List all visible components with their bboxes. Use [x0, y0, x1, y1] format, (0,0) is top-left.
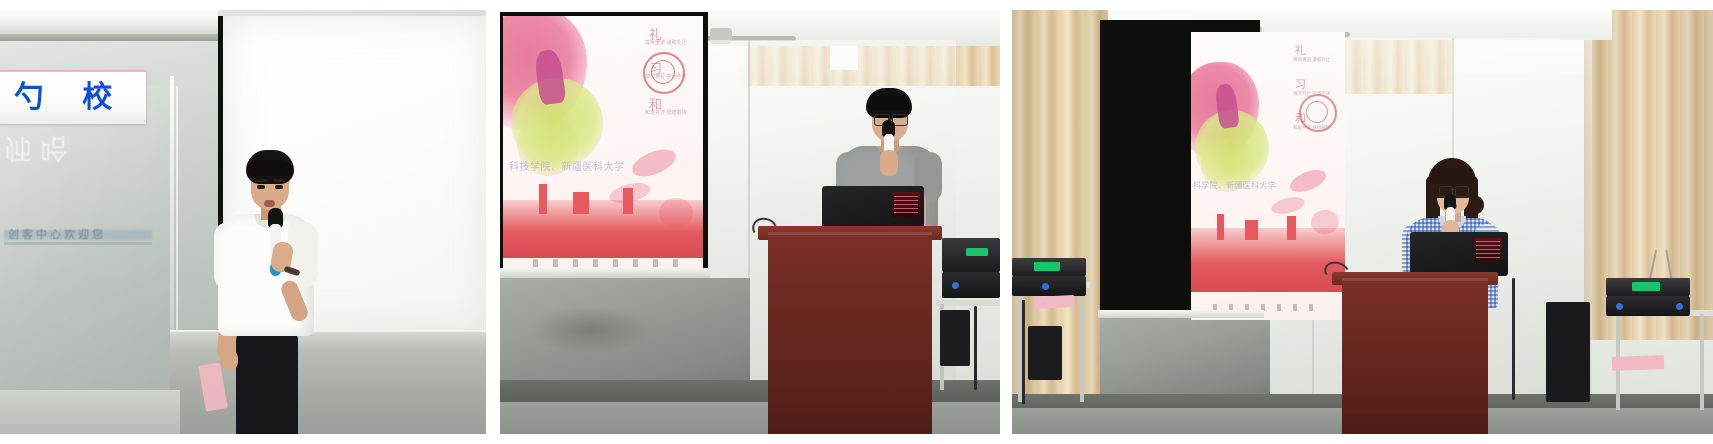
hair-fringe: [1430, 168, 1475, 184]
slide-char-3-sub: 和衷共济 厚德载物: [645, 110, 697, 118]
rack-power-led: [952, 282, 959, 289]
slide-char-1-sub: 尊师重道 谦和礼让: [645, 40, 697, 48]
slide-character-column: 礼 尊师重道 谦和礼让 习 博学笃行 学而不厌 和 和衷共济 厚德载物: [641, 22, 697, 144]
left-hand: [220, 350, 238, 370]
equipment-table: [936, 300, 1000, 306]
hair-fringe: [867, 96, 911, 110]
slide-character-column: 礼 尊师重道 谦和礼让 习 博学笃行 学而不厌 和 和衷共济 厚德载物: [1291, 42, 1337, 162]
cable-left: [1022, 300, 1025, 404]
slide-char-2-sub: 博学笃行 学而不厌: [645, 74, 697, 82]
projected-slide: 礼 尊师重道 谦和礼让 习 博学笃行 学而不厌 和 和衷共济 厚德载物 科学院、…: [1191, 32, 1345, 320]
wooden-podium: [1342, 278, 1488, 434]
left-eye: [257, 185, 265, 189]
photo-panel-1[interactable]: 师哈 创客中心欢迎您 勺 校: [0, 10, 486, 434]
rack-led-display: [966, 248, 988, 256]
audio-rack-lower: [942, 272, 1000, 298]
cart-left-leg-2: [1080, 286, 1084, 402]
projected-slide: 礼 尊师重道 谦和礼让 习 博学笃行 学而不厌 和 和衷共济 厚德载物 科技学院…: [503, 16, 703, 269]
screen-bottom-edge: [1098, 310, 1264, 318]
trousers: [236, 330, 298, 434]
photo-panel-3[interactable]: 礼 尊师重道 谦和礼让 习 博学笃行 学而不厌 和 和衷共济 厚德载物 科学院、…: [1012, 10, 1713, 434]
mouth: [264, 200, 275, 207]
slide-skyline: [1191, 228, 1345, 292]
pink-paper-left: [1034, 295, 1075, 309]
rack-right-power-led-1: [1616, 303, 1623, 310]
hair-fringe: [247, 160, 293, 176]
ceiling-panel: [0, 10, 218, 36]
speaker-box-left: [1028, 326, 1062, 380]
signboard-text: 勺 校: [0, 83, 146, 113]
photo-collage: 师哈 创客中心欢迎您 勺 校: [0, 0, 1713, 444]
projection-screen-frame: 礼 尊师重道 谦和礼让 习 博学笃行 学而不厌 和 和衷共济 厚德载物 科学院、…: [1100, 20, 1260, 316]
floor-left: [0, 390, 180, 434]
rack-right-power-led-2: [1676, 303, 1683, 310]
sign-reflection-text: 师哈: [4, 130, 134, 170]
rack-left-power-led: [1042, 283, 1049, 290]
slide-char-3-sub: 和衷共济 厚德载物: [1293, 126, 1335, 133]
pink-paper-right: [1612, 355, 1664, 371]
rack-right-led-display: [1632, 282, 1660, 291]
slide-char-3: 和: [1295, 110, 1306, 126]
slide-char-1: 礼: [1295, 42, 1306, 58]
hair-bun: [1468, 196, 1484, 214]
slide-skyline: [503, 200, 703, 258]
glasses-bridge: [1451, 189, 1455, 190]
wooden-podium: [768, 232, 932, 434]
glasses-right-lens: [1455, 186, 1469, 197]
slide-bottom-bar: [533, 259, 683, 267]
photo-panel-2[interactable]: 礼 尊师重道 谦和礼让 习 博学笃行 学而不厌 和 和衷共济 厚德载物 科技学院…: [500, 10, 1000, 434]
projection-screen-frame: 礼 尊师重道 谦和礼让 习 博学笃行 学而不厌 和 和衷共济 厚德载物 科技学院…: [500, 12, 708, 274]
screen-bottom-edge: [500, 268, 710, 278]
hand: [880, 150, 898, 176]
right-eye: [275, 185, 283, 189]
ceiling-lip: [0, 34, 218, 41]
slide-char-2-sub: 博学笃行 学而不厌: [1293, 92, 1335, 99]
cart-right-leg-2: [1700, 314, 1704, 410]
slide-petal-2: [1270, 194, 1307, 217]
audio-rack-left-lower: [1012, 276, 1086, 296]
slide-char-1-sub: 尊师重道 谦和礼让: [1293, 58, 1335, 65]
laptop-lid-stripes: [894, 196, 918, 214]
speaker-box: [940, 310, 970, 366]
pink-paper: [198, 362, 228, 411]
rack-left-led-display: [1034, 262, 1060, 271]
cable-right: [1512, 278, 1515, 400]
slide-petal-1: [629, 144, 680, 182]
glass-band-line: [4, 242, 152, 245]
chalkboard-smudge: [530, 306, 650, 354]
glass-band-text: 创客中心欢迎您: [8, 226, 118, 242]
speaker-box-right: [1546, 302, 1590, 402]
slide-char-2: 习: [1295, 76, 1306, 92]
cable: [974, 306, 977, 390]
person-speaker-male: [196, 150, 322, 434]
slide-petal-1: [1287, 166, 1329, 197]
wall-signboard: 勺 校: [0, 70, 146, 124]
laptop-lid-stripes: [1476, 241, 1500, 259]
